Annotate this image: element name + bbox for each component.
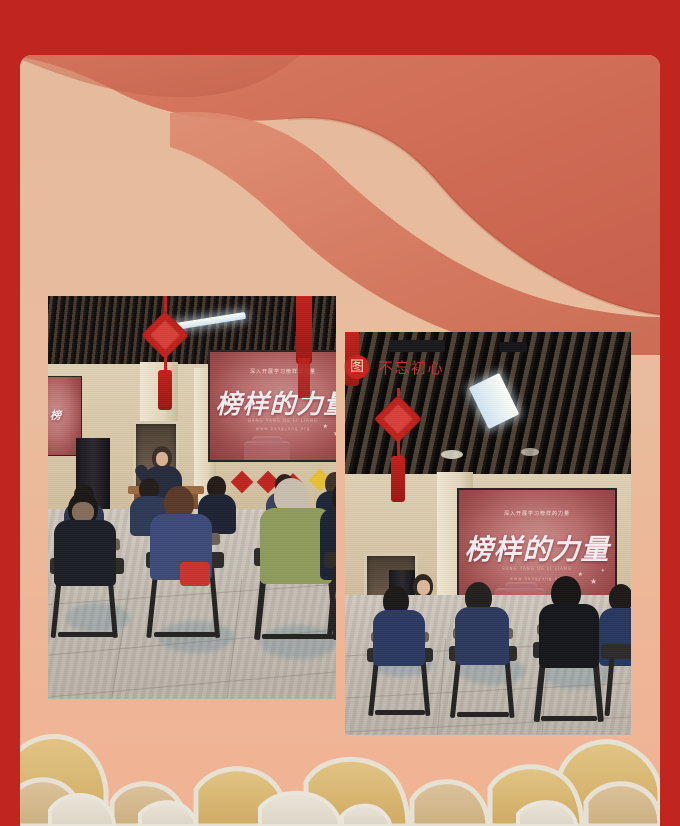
screen-title: 榜样的力量 bbox=[459, 528, 615, 568]
screen-subtitle: 深入开展学习榜样的力量 bbox=[210, 368, 336, 375]
photo-left[interactable]: 榜 深入开展学习榜样的力量 榜样的力量 BANG YANG DE LI LIAN… bbox=[48, 296, 336, 699]
screen-title: 榜样的力量 bbox=[210, 384, 336, 421]
screen-latin-subtitle: BANG YANG DE LI LIANG bbox=[210, 418, 336, 423]
projection-screen-left: 深入开展学习榜样的力量 榜样的力量 BANG YANG DE LI LIANG … bbox=[208, 350, 336, 462]
content-card: 榜 深入开展学习榜样的力量 榜样的力量 BANG YANG DE LI LIAN… bbox=[20, 55, 660, 826]
chinese-knot-decoration bbox=[140, 296, 190, 446]
chinese-knot-decoration bbox=[375, 388, 423, 538]
app-frame: 榜 深入开展学习榜样的力量 榜样的力量 BANG YANG DE LI LIAN… bbox=[0, 0, 680, 826]
screen-latin-subtitle: BANG YANG DE LI LIANG bbox=[459, 566, 615, 571]
caption-label: 不忘初心 bbox=[378, 357, 444, 378]
screen-subtitle: 深入开展学习榜样的力量 bbox=[459, 510, 615, 517]
photo-right[interactable]: 深入开展学习榜样的力量 榜样的力量 BANG YANG DE LI LIANG … bbox=[345, 332, 631, 735]
screen-latin-second: www.bangyang.org bbox=[210, 426, 336, 431]
photo-caption-row: 图 不忘初心 bbox=[345, 355, 444, 379]
image-badge-icon: 图 bbox=[345, 355, 369, 379]
